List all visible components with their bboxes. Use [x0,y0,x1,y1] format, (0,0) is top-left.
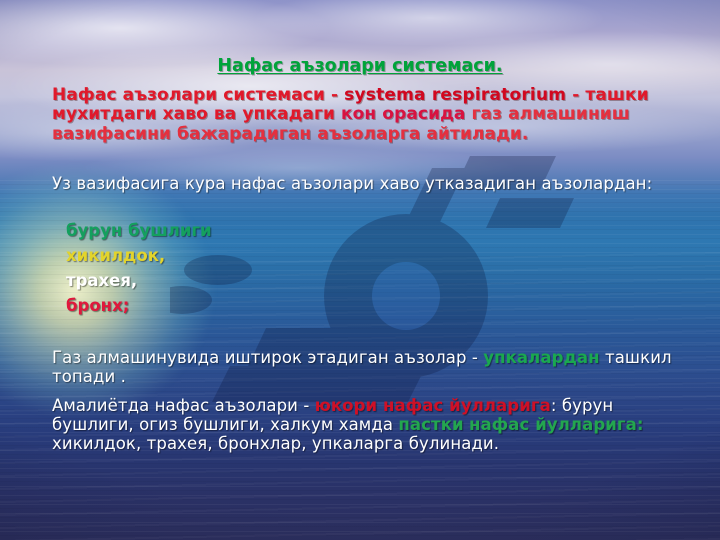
practical-post: хикилдок, трахея, бронхлар, упкаларга бу… [52,434,499,453]
list-item: бронх; [66,296,129,315]
presentation-slide: Нафас аъзолари системаси. Нафас аъзолари… [0,0,720,540]
intro-paragraph: Нафас аъзолари системаси - systema respi… [52,86,694,144]
list-item: хикилдок, [66,246,165,265]
paragraph-airway-organs: Уз вазифасига кура нафас аъзолари хаво у… [52,175,694,194]
gas-exchange-pre: Газ алмашинувида иштирок этадиган аъзола… [52,348,483,367]
lower-airway-highlight-1: пастки [398,415,463,434]
intro-latin-term: systema respiratorium [344,85,566,105]
slide-title: Нафас аъзолари системаси. [0,56,720,76]
intro-rest-b: кон орасида [341,104,466,124]
practical-pre: Амалиётда нафас аъзолари - [52,396,315,415]
gas-exchange-highlight: упкалардан [483,348,599,367]
intro-lead: Нафас аъзолари системаси - [52,85,344,105]
upper-airway-highlight: юкори нафас йулларига [315,396,551,415]
list-item: бурун бушлиги [66,221,212,240]
list-item: трахея, [66,271,137,290]
slide-content: Нафас аъзолари системаси. Нафас аъзолари… [0,0,720,540]
paragraph-gas-exchange: Газ алмашинувида иштирок этадиган аъзола… [52,349,694,387]
paragraph-practical-division: Амалиётда нафас аъзолари - юкори нафас й… [52,397,694,453]
lower-airway-highlight-2: нафас йулларига: [469,415,644,434]
intro-dash: - [566,85,585,105]
